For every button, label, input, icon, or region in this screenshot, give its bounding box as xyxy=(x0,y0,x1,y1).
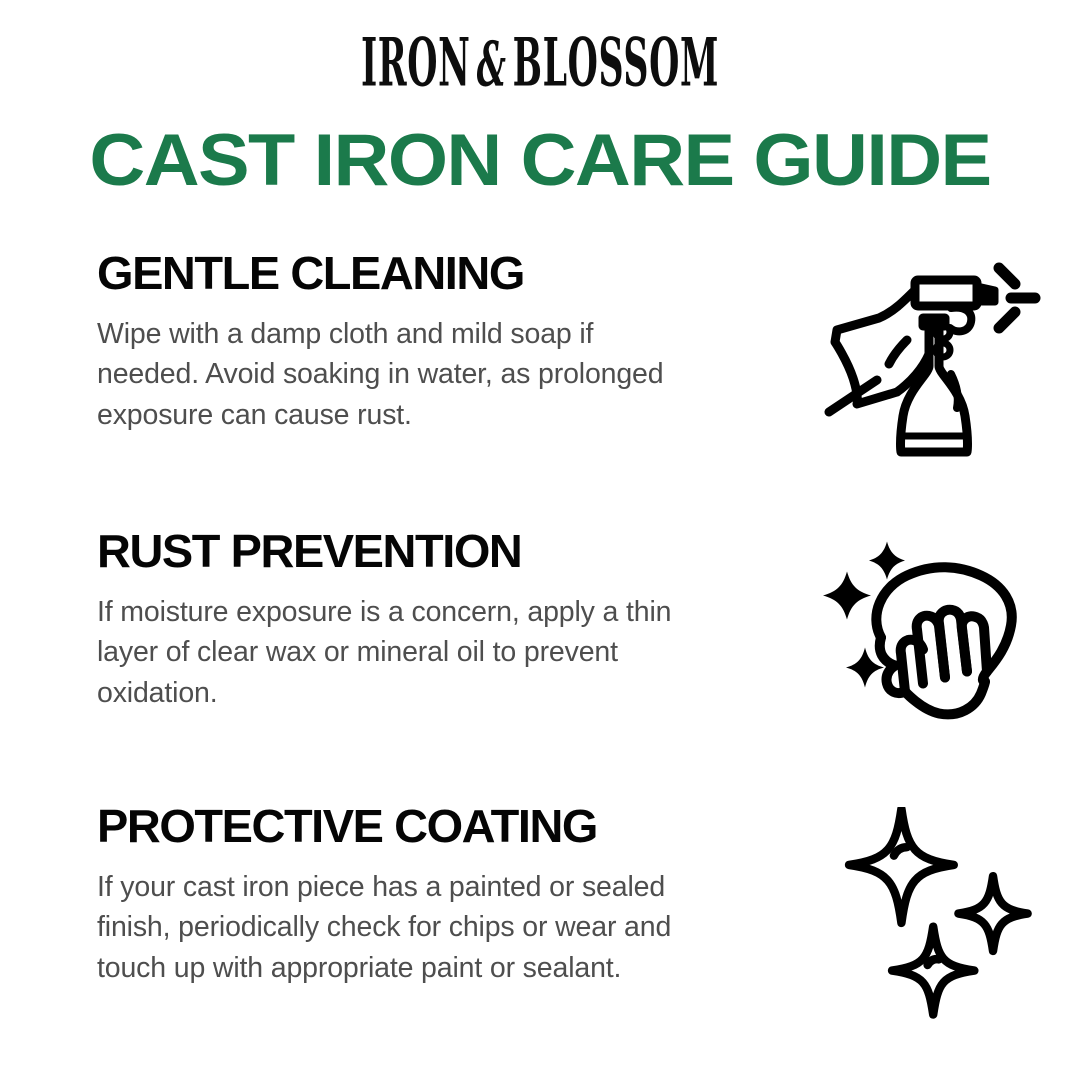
page-title: CAST IRON CARE GUIDE xyxy=(0,124,1080,197)
section-body: If your cast iron piece has a painted or… xyxy=(97,867,812,988)
spray-bottle-icon xyxy=(819,256,1049,471)
body-line: touch up with appropriate paint or seala… xyxy=(97,948,812,988)
section-heading: RUST PREVENTION xyxy=(97,528,823,575)
care-section-rust-prevention: RUST PREVENTION If moisture exposure is … xyxy=(97,528,1057,749)
sparkles-icon xyxy=(821,807,1051,1022)
section-text-block: RUST PREVENTION If moisture exposure is … xyxy=(97,528,809,713)
body-line: oxidation. xyxy=(97,673,809,713)
body-line: layer of clear wax or mineral oil to pre… xyxy=(97,632,809,672)
body-line: If moisture exposure is a concern, apply… xyxy=(97,592,809,632)
section-body: Wipe with a damp cloth and mild soap if … xyxy=(97,314,812,435)
body-line: finish, periodically check for chips or … xyxy=(97,907,812,947)
care-section-protective-coating: PROTECTIVE COATING If your cast iron pie… xyxy=(97,803,1057,1022)
section-text-block: PROTECTIVE COATING If your cast iron pie… xyxy=(97,803,817,988)
care-guide-poster: IRON&BLOSSOM CAST IRON CARE GUIDE GENTLE… xyxy=(0,0,1080,1080)
brand-logotype: IRON&BLOSSOM xyxy=(205,30,875,96)
brand-ampersand: & xyxy=(471,29,513,101)
body-line: Wipe with a damp cloth and mild soap if xyxy=(97,314,812,354)
body-line: exposure can cause rust. xyxy=(97,395,812,435)
brand-name-part2: BLOSSOM xyxy=(513,24,719,102)
body-line: needed. Avoid soaking in water, as prolo… xyxy=(97,354,812,394)
care-section-gentle-cleaning: GENTLE CLEANING Wipe with a damp cloth a… xyxy=(97,250,1057,471)
section-text-block: GENTLE CLEANING Wipe with a damp cloth a… xyxy=(97,250,817,435)
brand-name-part1: IRON xyxy=(361,24,471,102)
section-heading: GENTLE CLEANING xyxy=(97,250,831,297)
wiping-hand-sparkle-icon xyxy=(809,534,1039,749)
section-heading: PROTECTIVE COATING xyxy=(97,803,831,850)
body-line: If your cast iron piece has a painted or… xyxy=(97,867,812,907)
section-body: If moisture exposure is a concern, apply… xyxy=(97,592,809,713)
